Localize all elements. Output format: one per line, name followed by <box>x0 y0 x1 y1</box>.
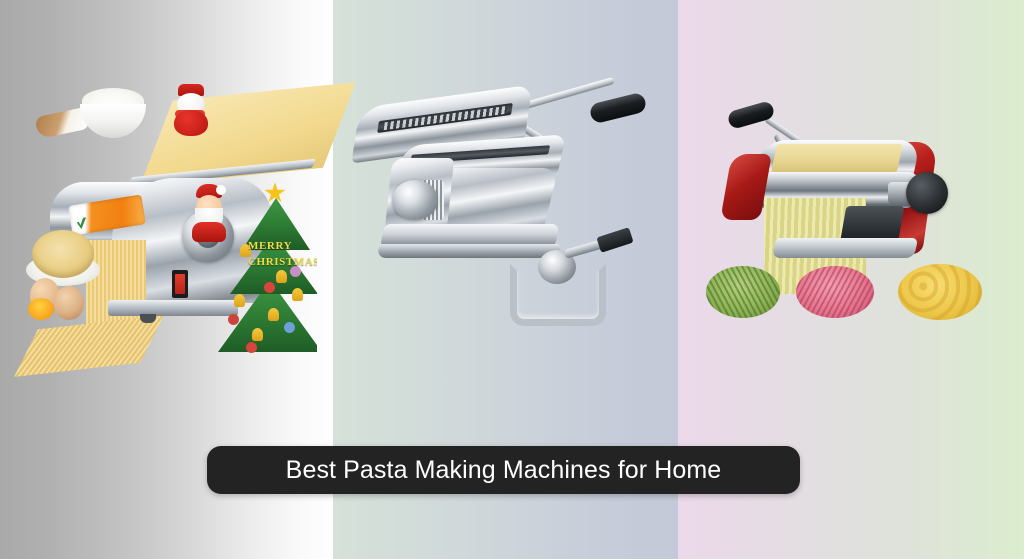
pasta-pile-pink-spaghetti <box>796 266 874 318</box>
egg-yolk <box>28 298 54 320</box>
tree-bell-icon <box>252 328 263 341</box>
product-electric-pasta-machine: MERRY CHRISTMAS <box>22 82 317 357</box>
tree-bell-icon <box>292 288 303 301</box>
tree-bell-icon <box>268 308 279 321</box>
tree-bell-icon <box>276 270 287 283</box>
flour-bowl <box>80 104 146 138</box>
christmas-greeting-text: MERRY CHRISTMAS <box>248 238 316 270</box>
thickness-knob <box>906 172 948 214</box>
tree-ornament <box>228 314 239 325</box>
pasta-pile-green-fettuccine <box>706 266 780 318</box>
pasta-pile-yellow-tortellini <box>898 264 982 320</box>
snowman-body <box>174 110 208 136</box>
page-title: Best Pasta Making Machines for Home <box>286 456 722 485</box>
hero-image: MERRY CHRISTMAS <box>0 0 1024 559</box>
crank-handle-grip <box>588 92 647 125</box>
pasta-nest <box>32 230 94 278</box>
tree-bell-icon <box>234 294 245 307</box>
egg <box>54 286 84 320</box>
tree-ornament <box>284 322 295 333</box>
table-clamp-t-handle <box>596 227 633 253</box>
dough-sheet <box>771 144 903 172</box>
product-manual-pasta-machine <box>352 92 664 340</box>
brand-check-icon <box>76 217 88 229</box>
tree-ornament <box>246 342 257 353</box>
noodle-fan <box>14 315 164 377</box>
tree-ornament <box>264 282 275 293</box>
christmas-tree-decoration: MERRY CHRISTMAS <box>212 182 317 357</box>
snowman-decoration <box>172 84 214 136</box>
product-red-pasta-machine <box>692 98 1002 348</box>
machine-foot <box>140 314 156 323</box>
title-banner: Best Pasta Making Machines for Home <box>207 446 800 494</box>
machine-base-edge <box>377 244 562 258</box>
machine-base <box>772 238 918 258</box>
thickness-dial <box>392 180 438 220</box>
power-switch <box>172 270 188 298</box>
crank-handle-grip <box>726 100 775 130</box>
